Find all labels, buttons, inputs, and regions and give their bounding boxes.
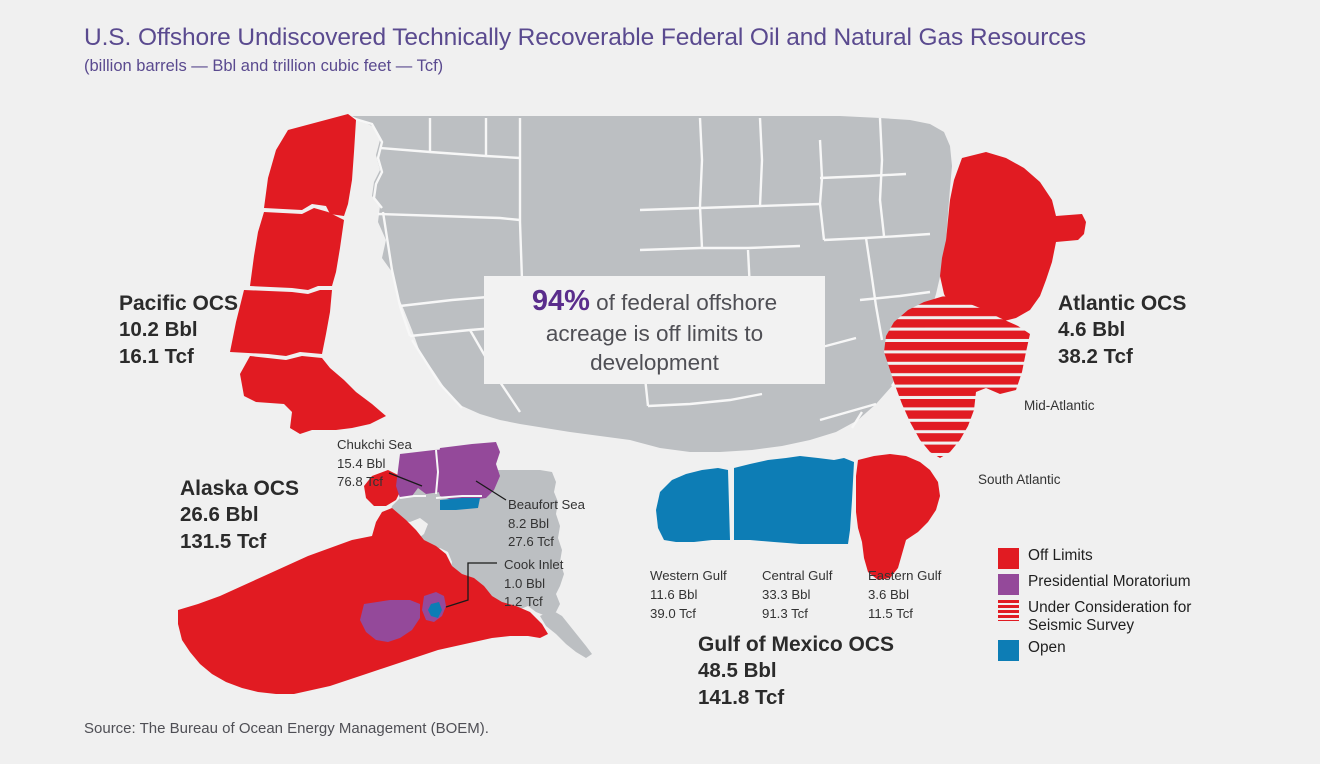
pacific-name: Pacific OCS <box>119 290 238 317</box>
legend-label-moratorium: Presidential Moratorium <box>1028 573 1191 591</box>
central-gulf-oil: 33.3 Bbl <box>762 585 832 604</box>
pacific-ocs-region[interactable] <box>230 114 386 434</box>
central-gulf-name: Central Gulf <box>762 566 832 585</box>
western-gulf-name: Western Gulf <box>650 566 727 585</box>
label-pacific-ocs: Pacific OCS 10.2 Bbl 16.1 Tcf <box>119 290 238 371</box>
legend-swatch-moratorium-icon <box>998 574 1019 595</box>
western-gulf-oil: 11.6 Bbl <box>650 585 727 604</box>
annotation-south-atlantic: South Atlantic <box>978 472 1061 487</box>
eastern-gulf-oil: 3.6 Bbl <box>868 585 941 604</box>
alaska-oil: 26.6 Bbl <box>180 502 299 529</box>
label-eastern-gulf: Eastern Gulf 3.6 Bbl 11.5 Tcf <box>868 566 941 623</box>
callout-text: 94% of federal offshore acreage is off l… <box>484 283 825 378</box>
eastern-gulf-name: Eastern Gulf <box>868 566 941 585</box>
beaufort-name: Beaufort Sea <box>508 496 585 515</box>
gulf-of-mexico-regions[interactable] <box>656 454 940 580</box>
infographic-canvas: U.S. Offshore Undiscovered Technically R… <box>0 0 1320 764</box>
chukchi-gas: 76.8 Tcf <box>337 473 412 492</box>
legend-item-seismic[interactable]: Under Consideration for Seismic Survey <box>998 599 1208 635</box>
cook-name: Cook Inlet <box>504 556 563 575</box>
gulf-gas: 141.8 Tcf <box>698 685 894 712</box>
legend-label-open: Open <box>1028 639 1066 657</box>
legend-swatch-open-icon <box>998 640 1019 661</box>
mid-south-atlantic-seismic-region[interactable] <box>884 296 1030 458</box>
callout-box: 94% of federal offshore acreage is off l… <box>484 276 825 384</box>
beaufort-oil: 8.2 Bbl <box>508 515 585 534</box>
beaufort-gas: 27.6 Tcf <box>508 533 585 552</box>
callout-percent: 94% <box>532 285 590 317</box>
label-beaufort-sea: Beaufort Sea 8.2 Bbl 27.6 Tcf <box>508 496 585 552</box>
source-note: Source: The Bureau of Ocean Energy Manag… <box>84 720 489 737</box>
legend-item-moratorium[interactable]: Presidential Moratorium <box>998 573 1208 595</box>
atlantic-name: Atlantic OCS <box>1058 290 1186 317</box>
western-gulf-gas: 39.0 Tcf <box>650 604 727 623</box>
atlantic-gas: 38.2 Tcf <box>1058 344 1186 371</box>
pacific-oil: 10.2 Bbl <box>119 317 238 344</box>
gulf-oil: 48.5 Bbl <box>698 658 894 685</box>
eastern-gulf-gas: 11.5 Tcf <box>868 604 941 623</box>
label-cook-inlet: Cook Inlet 1.0 Bbl 1.2 Tcf <box>504 556 563 612</box>
legend-item-open[interactable]: Open <box>998 639 1208 661</box>
atlantic-oil: 4.6 Bbl <box>1058 317 1186 344</box>
label-central-gulf: Central Gulf 33.3 Bbl 91.3 Tcf <box>762 566 832 623</box>
legend-swatch-off-limits-icon <box>998 548 1019 569</box>
cook-oil: 1.0 Bbl <box>504 575 563 594</box>
cook-gas: 1.2 Tcf <box>504 593 563 612</box>
label-atlantic-ocs: Atlantic OCS 4.6 Bbl 38.2 Tcf <box>1058 290 1186 371</box>
central-gulf-gas: 91.3 Tcf <box>762 604 832 623</box>
legend-label-seismic: Under Consideration for Seismic Survey <box>1028 599 1208 635</box>
label-gulf-ocs: Gulf of Mexico OCS 48.5 Bbl 141.8 Tcf <box>698 631 894 712</box>
label-western-gulf: Western Gulf 11.6 Bbl 39.0 Tcf <box>650 566 727 623</box>
label-alaska-ocs: Alaska OCS 26.6 Bbl 131.5 Tcf <box>180 475 299 556</box>
legend-swatch-seismic-icon <box>998 600 1019 621</box>
pacific-gas: 16.1 Tcf <box>119 344 238 371</box>
alaska-gas: 131.5 Tcf <box>180 529 299 556</box>
legend-item-off-limits[interactable]: Off Limits <box>998 547 1208 569</box>
legend-label-off-limits: Off Limits <box>1028 547 1093 565</box>
chukchi-name: Chukchi Sea <box>337 436 412 455</box>
chukchi-oil: 15.4 Bbl <box>337 455 412 474</box>
label-chukchi-sea: Chukchi Sea 15.4 Bbl 76.8 Tcf <box>337 436 412 492</box>
annotation-mid-atlantic: Mid-Atlantic <box>1024 398 1095 413</box>
gulf-name: Gulf of Mexico OCS <box>698 631 894 658</box>
alaska-name: Alaska OCS <box>180 475 299 502</box>
legend: Off Limits Presidential Moratorium Under… <box>998 547 1208 665</box>
